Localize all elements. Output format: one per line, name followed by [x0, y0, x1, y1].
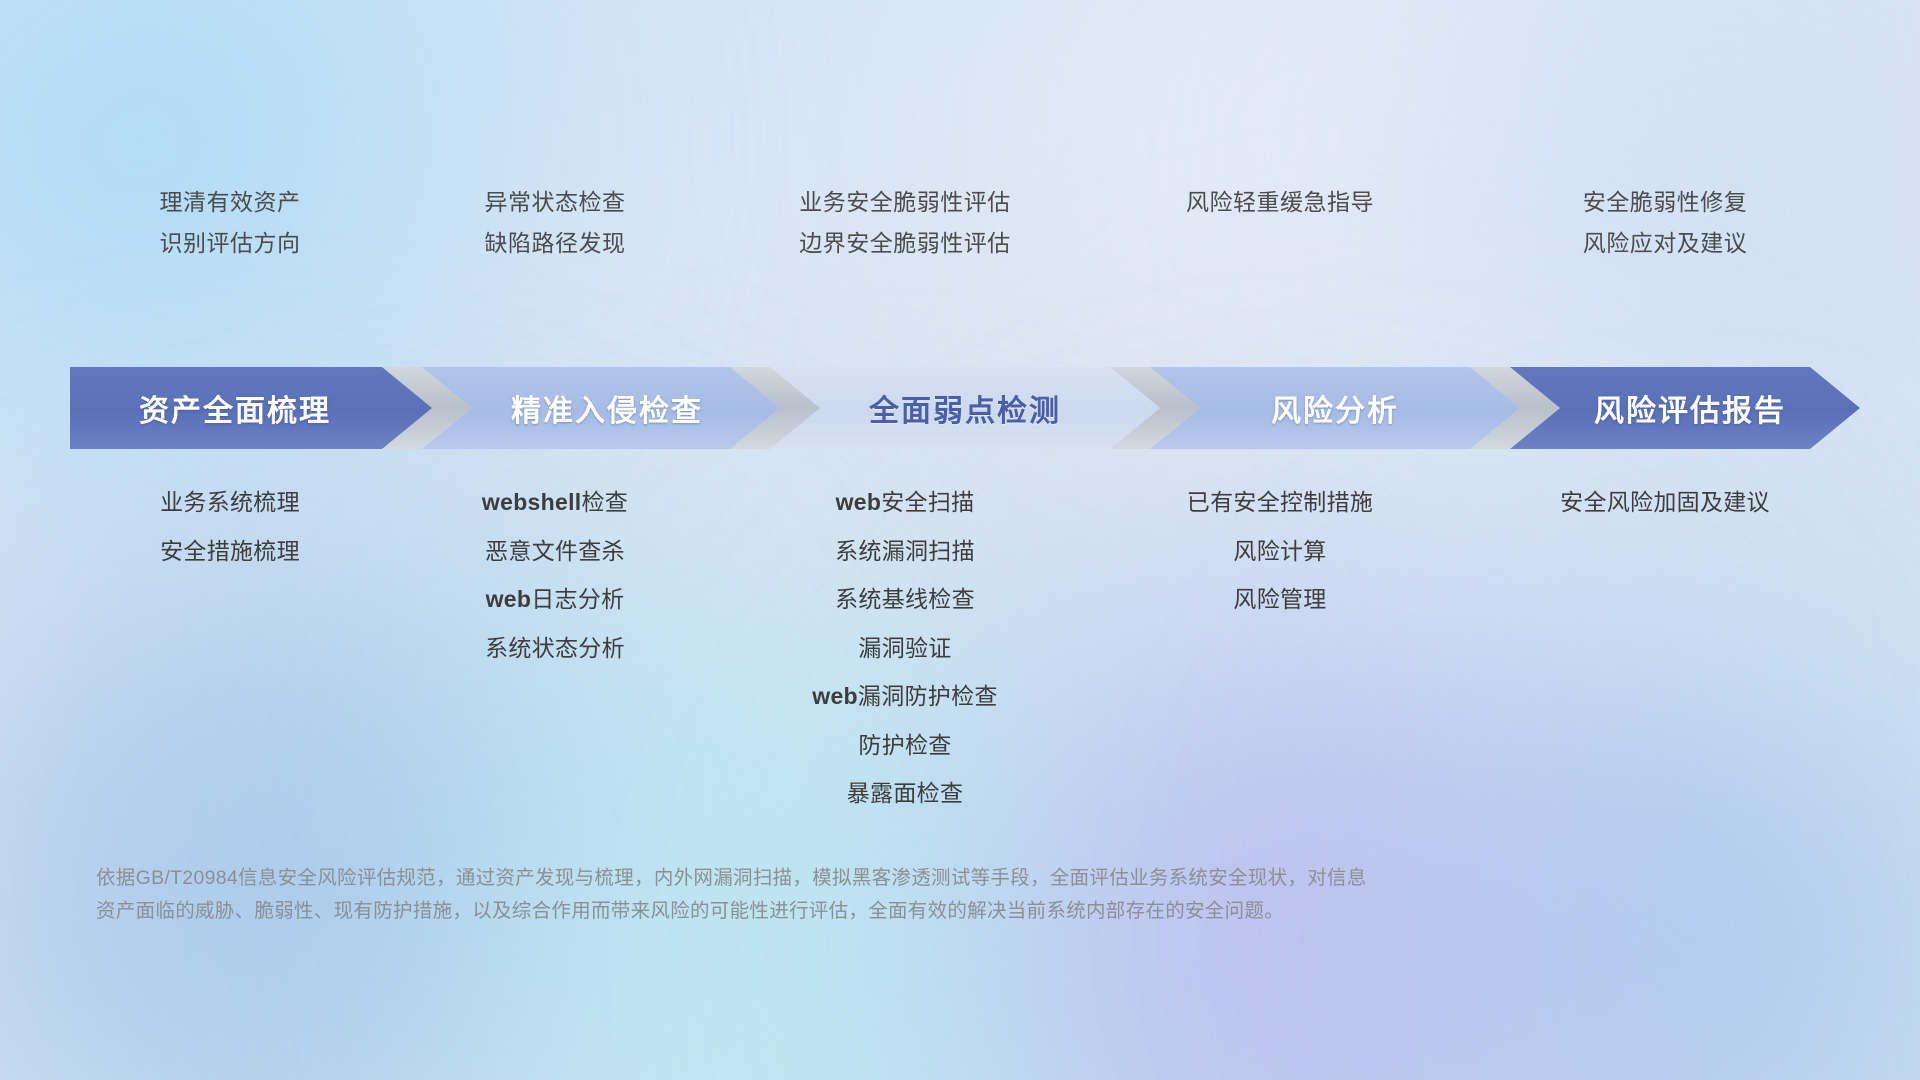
top-notes-col-3: 业务安全脆弱性评估 边界安全脆弱性评估: [720, 182, 1090, 264]
list-item: 业务系统梳理: [160, 478, 300, 527]
chevron-label-4[interactable]: 风险分析: [1170, 367, 1500, 449]
chevron-label-1[interactable]: 资产全面梳理: [70, 367, 400, 449]
top-notes-col-5: 安全脆弱性修复 风险应对及建议: [1470, 182, 1860, 264]
list-item: 漏洞验证: [858, 624, 951, 673]
list-item: 风险管理: [1233, 575, 1326, 624]
list-item: 系统漏洞扫描: [835, 527, 975, 576]
list-item: web漏洞防护检查: [812, 672, 997, 721]
list-item: 风险计算: [1233, 527, 1326, 576]
list-item: 暴露面检查: [847, 769, 964, 818]
list-item: 系统状态分析: [485, 624, 625, 673]
top-note: 理清有效资产: [160, 182, 301, 223]
top-note: 安全脆弱性修复: [1583, 182, 1748, 223]
chevron-label-2[interactable]: 精准入侵检查: [442, 367, 772, 449]
process-diagram: 理清有效资产 识别评估方向 异常状态检查 缺陷路径发现 业务安全脆弱性评估 边界…: [0, 0, 1920, 1080]
top-note: 业务安全脆弱性评估: [799, 182, 1011, 223]
items-col-1: 业务系统梳理 安全措施梳理: [70, 478, 390, 575]
list-item: webshell检查: [482, 478, 628, 527]
process-chevron-banner: 资产全面梳理 精准入侵检查 全面弱点检测 风险分析 风险评估报告: [70, 367, 1860, 449]
top-notes-col-1: 理清有效资产 识别评估方向: [70, 182, 390, 264]
top-note: 异常状态检查: [485, 182, 626, 223]
chevron-label-5[interactable]: 风险评估报告: [1530, 367, 1850, 449]
list-item: 防护检查: [858, 721, 951, 770]
items-col-5: 安全风险加固及建议: [1470, 478, 1860, 527]
top-note: 缺陷路径发现: [485, 223, 626, 264]
list-item: 安全措施梳理: [160, 527, 300, 576]
footer-line-1: 依据GB/T20984信息安全风险评估规范，通过资产发现与梳理，内外网漏洞扫描，…: [96, 862, 1616, 895]
top-notes-col-2: 异常状态检查 缺陷路径发现: [390, 182, 720, 264]
chevron-label-3[interactable]: 全面弱点检测: [790, 367, 1140, 449]
list-item: web安全扫描: [836, 478, 975, 527]
top-note: 风险应对及建议: [1583, 223, 1748, 264]
items-col-3: web安全扫描 系统漏洞扫描 系统基线检查 漏洞验证 web漏洞防护检查 防护检…: [720, 478, 1090, 818]
list-item: web日志分析: [486, 575, 625, 624]
items-col-2: webshell检查 恶意文件查杀 web日志分析 系统状态分析: [390, 478, 720, 672]
top-note: 识别评估方向: [160, 223, 301, 264]
footer-description: 依据GB/T20984信息安全风险评估规范，通过资产发现与梳理，内外网漏洞扫描，…: [96, 862, 1616, 928]
items-col-4: 已有安全控制措施 风险计算 风险管理: [1090, 478, 1470, 624]
bottom-items-row: 业务系统梳理 安全措施梳理 webshell检查 恶意文件查杀 web日志分析 …: [70, 478, 1860, 818]
top-note: 风险轻重缓急指导: [1186, 182, 1374, 223]
list-item: 已有安全控制措施: [1187, 478, 1373, 527]
footer-line-2: 资产面临的威胁、脆弱性、现有防护措施，以及综合作用而带来风险的可能性进行评估，全…: [96, 895, 1616, 928]
top-note: 边界安全脆弱性评估: [799, 223, 1011, 264]
list-item: 安全风险加固及建议: [1560, 478, 1770, 527]
top-notes-row: 理清有效资产 识别评估方向 异常状态检查 缺陷路径发现 业务安全脆弱性评估 边界…: [70, 182, 1860, 264]
top-notes-col-4: 风险轻重缓急指导: [1090, 182, 1470, 264]
list-item: 系统基线检查: [835, 575, 975, 624]
list-item: 恶意文件查杀: [485, 527, 625, 576]
